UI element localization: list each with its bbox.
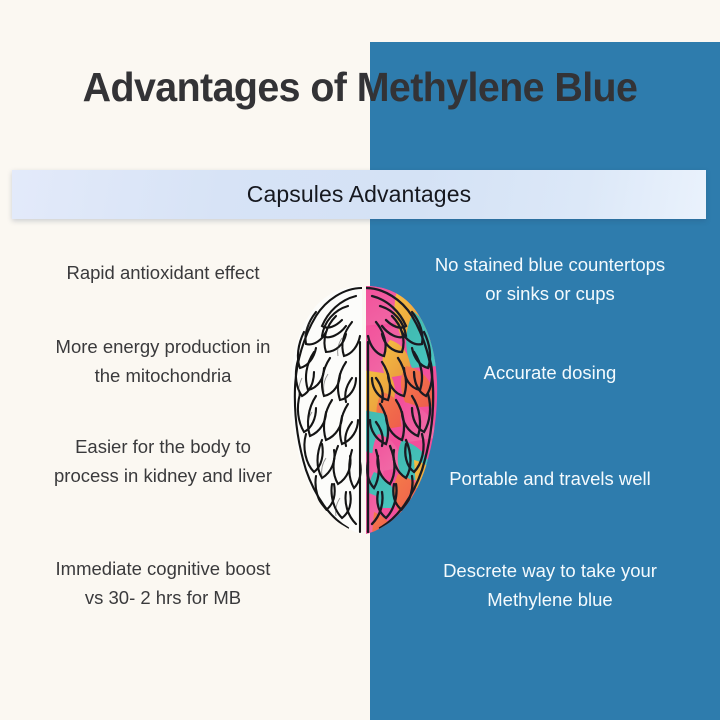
page-title: Advantages of Methylene Blue [14,58,705,116]
right-item-4-line-2: Methylene blue [390,585,710,614]
infographic-canvas: Advantages of Methylene Blue Capsules Ad… [0,0,720,720]
right-item-1-line-2: or sinks or cups [390,279,710,308]
left-item-2-line-1: More energy production in [6,332,320,361]
right-item-3-line-1: Portable and travels well [390,464,710,493]
right-advantages-column: No stained blue countertops or sinks or … [390,236,710,656]
left-item-2: More energy production in the mitochondr… [6,332,320,390]
left-item-3: Easier for the body to process in kidney… [6,432,320,490]
left-item-4: Immediate cognitive boost vs 30- 2 hrs f… [6,554,320,612]
left-item-3-line-2: process in kidney and liver [6,461,320,490]
right-item-1-line-1: No stained blue countertops [390,250,710,279]
right-item-3: Portable and travels well [390,464,710,493]
banner-label: Capsules Advantages [247,183,471,206]
right-item-4: Descrete way to take your Methylene blue [390,556,710,614]
left-item-2-line-2: the mitochondria [6,361,320,390]
right-item-2: Accurate dosing [390,358,710,387]
left-item-1-line-1: Rapid antioxidant effect [6,258,320,287]
left-advantages-column: Rapid antioxidant effect More energy pro… [6,236,320,656]
capsules-advantages-banner: Capsules Advantages [12,170,706,219]
left-item-4-line-1: Immediate cognitive boost [6,554,320,583]
left-item-1: Rapid antioxidant effect [6,258,320,287]
right-item-2-line-1: Accurate dosing [390,358,710,387]
left-item-3-line-1: Easier for the body to [6,432,320,461]
left-item-4-line-2: vs 30- 2 hrs for MB [6,583,320,612]
right-item-1: No stained blue countertops or sinks or … [390,250,710,308]
right-item-4-line-1: Descrete way to take your [390,556,710,585]
